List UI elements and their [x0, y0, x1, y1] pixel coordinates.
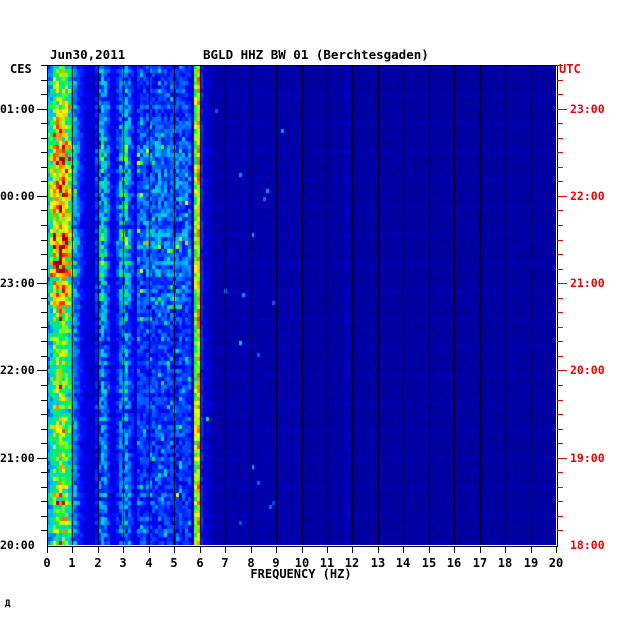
x-axis-title: FREQUENCY (HZ): [0, 567, 630, 581]
x-axis-tick: [174, 546, 175, 553]
x-axis-tick: [378, 546, 379, 553]
right-axis-minor-tick: [557, 385, 563, 386]
right-axis-minor-tick: [557, 298, 563, 299]
right-axis-time-label: 21:00: [570, 276, 605, 290]
right-axis-minor-tick: [557, 94, 563, 95]
right-axis-time-label: 18:00: [570, 538, 605, 552]
x-axis-tick: [352, 546, 353, 553]
x-axis-tick: [505, 546, 506, 553]
left-axis-name-label: CES: [10, 62, 32, 76]
right-axis-name-label: UTC: [559, 62, 581, 76]
right-axis-minor-tick: [557, 400, 563, 401]
left-axis-time-label: 21:00: [0, 451, 34, 465]
corner-artifact-mark: Д: [5, 600, 10, 609]
right-axis-minor-tick: [557, 516, 563, 517]
x-axis-tick: [149, 546, 150, 553]
x-axis-title-text: FREQUENCY (HZ): [250, 567, 351, 581]
x-axis-tick: [556, 546, 557, 553]
right-axis-minor-tick: [557, 225, 563, 226]
left-axis-time-label: 20:00: [0, 538, 34, 552]
spectrogram-page: Jun30,2011 BGLD HHZ BW 01 (Berchtesgaden…: [0, 0, 630, 624]
right-axis-time-label: 19:00: [570, 451, 605, 465]
left-axis-time-label: 22:00: [0, 363, 34, 377]
right-axis-minor-tick: [557, 312, 563, 313]
left-axis-hour-tick: [37, 196, 47, 197]
x-axis-tick: [403, 546, 404, 553]
right-axis-minor-tick: [557, 414, 563, 415]
x-axis-tick: [327, 546, 328, 553]
x-axis-tick: [276, 546, 277, 553]
right-axis-hour-tick: [557, 370, 567, 371]
right-axis-minor-tick: [557, 138, 563, 139]
x-axis-tick: [429, 546, 430, 553]
right-axis-time-label: 23:00: [570, 102, 605, 116]
right-axis-minor-tick: [557, 341, 563, 342]
right-axis-minor-tick: [557, 210, 563, 211]
right-axis-minor-tick: [557, 530, 563, 531]
right-axis-minor-tick: [557, 269, 563, 270]
right-axis-minor-tick: [557, 80, 563, 81]
left-axis-hour-tick: [37, 458, 47, 459]
right-axis-minor-tick: [557, 356, 563, 357]
right-axis-minor-tick: [557, 181, 563, 182]
right-axis-minor-tick: [557, 472, 563, 473]
right-axis-hour-tick: [557, 458, 567, 459]
x-axis-tick: [531, 546, 532, 553]
right-axis-minor-tick: [557, 487, 563, 488]
x-axis-tick: [98, 546, 99, 553]
right-axis-minor-tick: [557, 327, 563, 328]
x-axis-tick: [225, 546, 226, 553]
right-axis-minor-tick: [557, 254, 563, 255]
left-axis-time-label: 00:00: [0, 189, 34, 203]
x-axis-tick: [302, 546, 303, 553]
right-axis-minor-tick: [557, 167, 563, 168]
right-axis-minor-tick: [557, 443, 563, 444]
right-axis-time-label: 22:00: [570, 189, 605, 203]
right-axis-time-label: 20:00: [570, 363, 605, 377]
right-axis-hour-tick: [557, 196, 567, 197]
x-axis-tick: [200, 546, 201, 553]
right-axis-minor-tick: [557, 501, 563, 502]
x-axis-tick: [123, 546, 124, 553]
right-axis-minor-tick: [557, 152, 563, 153]
left-axis-time-label: 01:00: [0, 102, 34, 116]
plot-date-label: Jun30,2011: [50, 47, 125, 62]
x-axis-tick: [454, 546, 455, 553]
x-axis-tick: [480, 546, 481, 553]
left-axis-hour-tick: [37, 283, 47, 284]
x-axis-tick: [72, 546, 73, 553]
x-axis-tick: [251, 546, 252, 553]
x-axis-tick: [47, 546, 48, 553]
right-axis-minor-tick: [557, 240, 563, 241]
right-axis-minor-tick: [557, 429, 563, 430]
left-axis-hour-tick: [37, 109, 47, 110]
plot-title: BGLD HHZ BW 01 (Berchtesgaden): [203, 47, 429, 62]
right-axis-hour-tick: [557, 283, 567, 284]
left-axis-hour-tick: [37, 370, 47, 371]
right-axis-minor-tick: [557, 123, 563, 124]
left-axis-time-label: 23:00: [0, 276, 34, 290]
spectrogram-plot-area[interactable]: [47, 65, 556, 545]
right-axis-hour-tick: [557, 109, 567, 110]
spectrogram-canvas[interactable]: [47, 65, 556, 545]
